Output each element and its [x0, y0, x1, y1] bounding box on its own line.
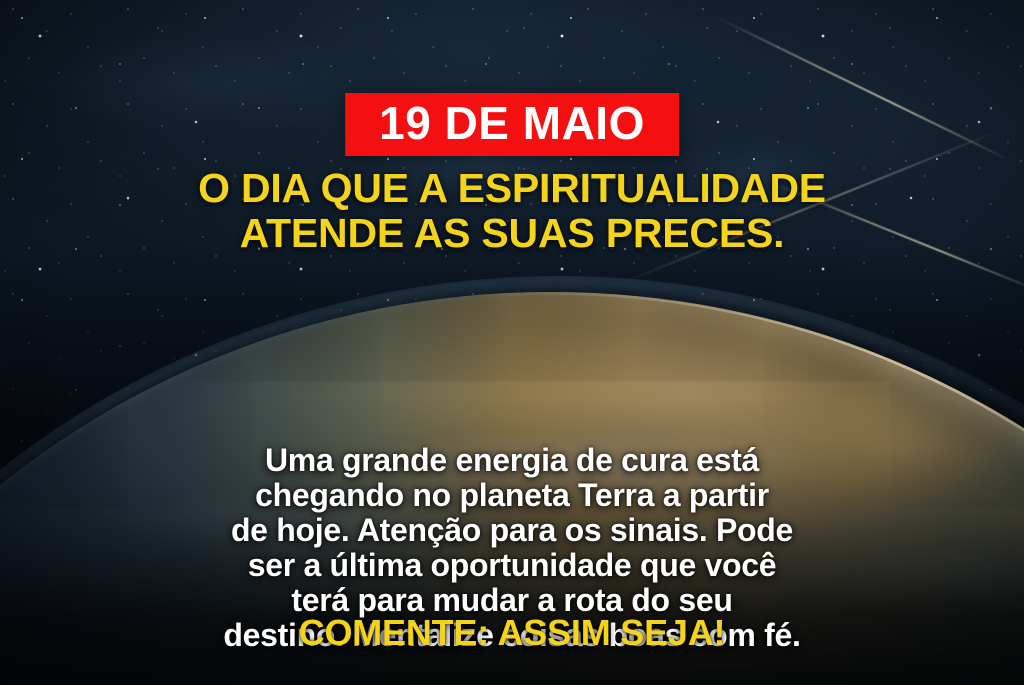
headline-line-1: O DIA QUE A ESPIRITUALIDADE — [0, 166, 1024, 211]
call-to-action-label: COMENTE: ASSIM SEJA! — [0, 613, 1024, 653]
body-line-4: ser a última oportunidade que você — [0, 548, 1024, 583]
poster-content: 19 DE MAIO O DIA QUE A ESPIRITUALIDADE A… — [0, 0, 1024, 685]
headline-line-2: ATENDE AS SUAS PRECES. — [0, 211, 1024, 256]
poster-canvas: 19 DE MAIO O DIA QUE A ESPIRITUALIDADE A… — [0, 0, 1024, 685]
body-line-1: Uma grande energia de cura está — [0, 443, 1024, 478]
headline: O DIA QUE A ESPIRITUALIDADE ATENDE AS SU… — [0, 166, 1024, 256]
body-line-2: chegando no planeta Terra a partir — [0, 478, 1024, 513]
body-line-3: de hoje. Atenção para os sinais. Pode — [0, 513, 1024, 548]
date-banner-label: 19 DE MAIO — [379, 100, 645, 146]
date-banner: 19 DE MAIO — [345, 93, 679, 156]
